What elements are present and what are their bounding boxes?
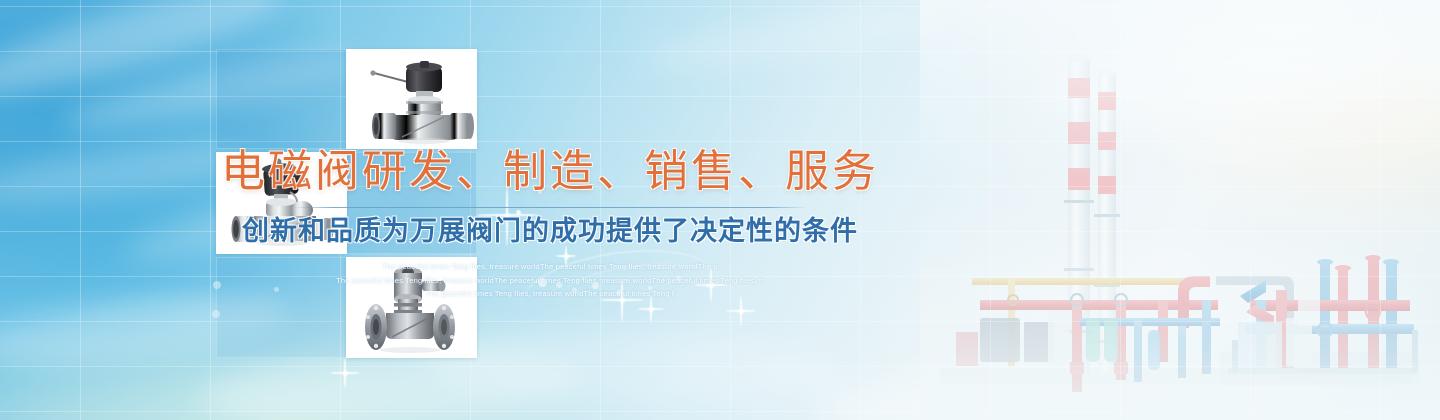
product-image-top[interactable] <box>346 49 477 149</box>
accent-tile-middle-right <box>346 152 477 254</box>
product-image-bottom[interactable] <box>346 257 477 358</box>
accent-tile-top-left <box>216 49 347 149</box>
product-image-middle[interactable] <box>216 152 347 254</box>
accent-tile-bottom-left <box>216 257 347 358</box>
hero-banner: 电磁阀研发、制造、销售、服务 创新和品质为万展阀门的成功提供了决定性的条件 Th… <box>0 0 1440 420</box>
